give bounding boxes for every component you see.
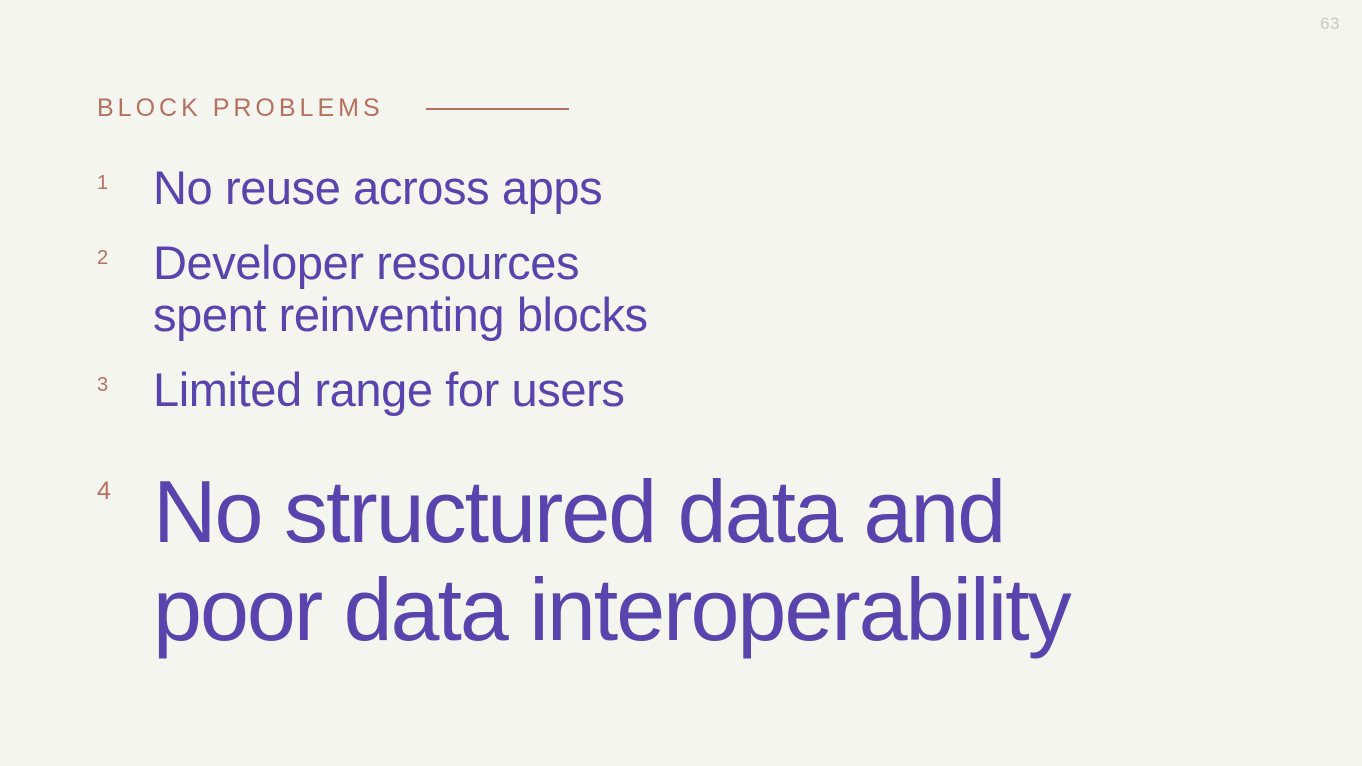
list-item: 3 Limited range for users — [97, 364, 1297, 417]
list-item-label: No reuse across apps — [153, 162, 602, 215]
kicker-label: BLOCK PROBLEMS — [97, 96, 384, 121]
problems-list: 1 No reuse across apps 2 Developer resou… — [97, 162, 1297, 660]
list-item-number: 2 — [97, 237, 153, 268]
list-item: 2 Developer resources spent reinventing … — [97, 237, 1297, 342]
slide-kicker: BLOCK PROBLEMS — [97, 96, 569, 121]
kicker-rule-divider — [426, 108, 569, 110]
list-item-label: Developer resources spent reinventing bl… — [153, 237, 648, 342]
slide-canvas: 63 BLOCK PROBLEMS 1 No reuse across apps… — [0, 0, 1362, 766]
list-item: 1 No reuse across apps — [97, 162, 1297, 215]
headline-item-label: No structured data and poor data interop… — [153, 463, 1070, 660]
headline-item-number: 4 — [97, 463, 153, 504]
list-item-number: 3 — [97, 364, 153, 395]
list-item-number: 1 — [97, 162, 153, 193]
list-item-label: Limited range for users — [153, 364, 624, 417]
headline-item: 4 No structured data and poor data inter… — [97, 463, 1297, 660]
slide-number: 63 — [1320, 14, 1340, 34]
